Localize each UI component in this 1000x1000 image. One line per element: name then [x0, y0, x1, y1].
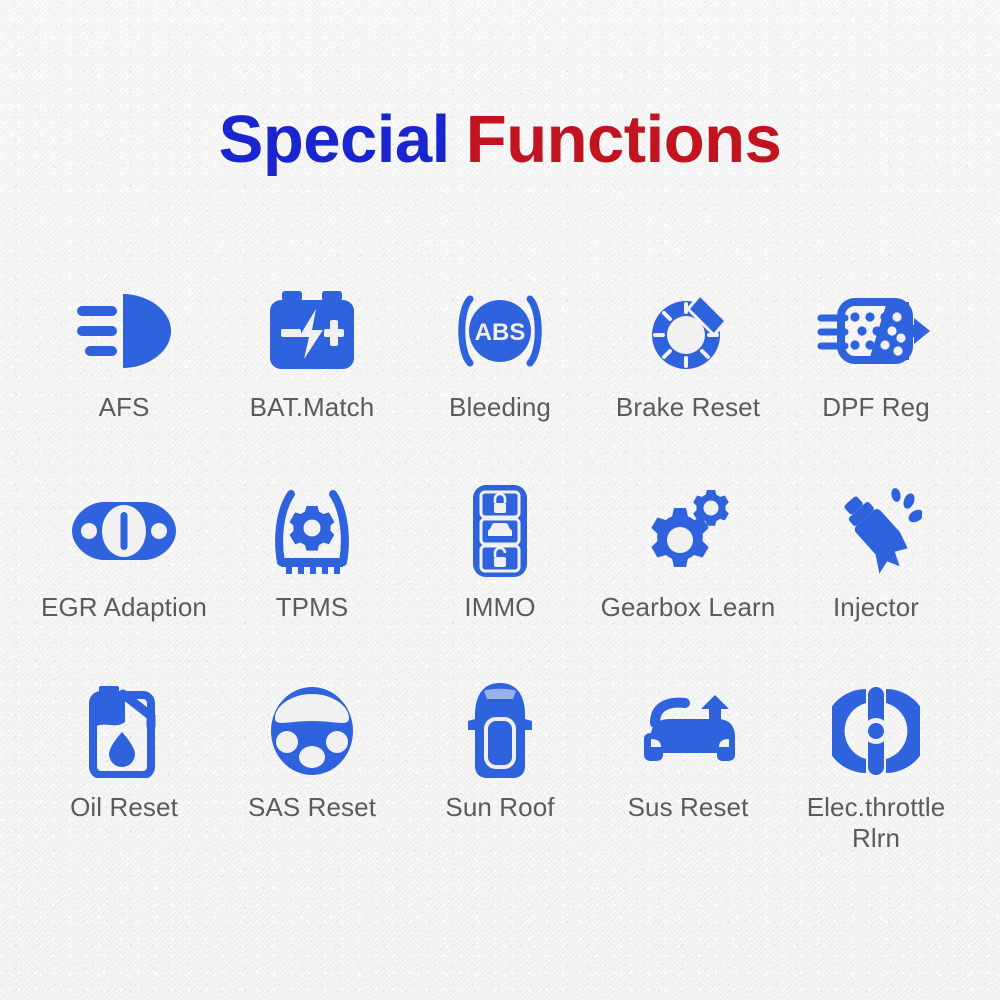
function-item-sus-reset[interactable]: Sus Reset	[594, 682, 782, 823]
suspension-car-icon	[637, 682, 739, 780]
function-item-dpf-reg[interactable]: DPF Reg	[782, 282, 970, 423]
function-item-gearbox-learn[interactable]: Gearbox Learn	[594, 482, 782, 623]
function-label: Oil Reset	[70, 792, 178, 823]
page-title-primary: Special	[219, 102, 450, 177]
steering-wheel-icon	[268, 682, 356, 780]
abs-icon: ABS	[453, 282, 547, 380]
brake-disc-icon	[642, 282, 734, 380]
function-item-bleeding[interactable]: ABS Bleeding	[406, 282, 594, 423]
function-item-afs[interactable]: AFS	[30, 282, 218, 423]
svg-text:ABS: ABS	[475, 319, 526, 346]
function-label: DPF Reg	[822, 392, 930, 423]
function-label: Elec.throttle Rlrn	[782, 792, 970, 853]
function-item-injector[interactable]: Injector	[782, 482, 970, 623]
tire-pressure-icon	[269, 482, 355, 580]
throttle-body-icon	[832, 682, 920, 780]
function-label: BAT.Match	[250, 392, 375, 423]
oil-can-icon	[85, 682, 163, 780]
function-label: AFS	[99, 392, 150, 423]
function-label: Injector	[833, 592, 919, 623]
function-label: EGR Adaption	[41, 592, 207, 623]
page-title: SpecialFunctions	[0, 103, 1000, 177]
special-functions-page: SpecialFunctions AFS	[0, 0, 1000, 1000]
function-item-sun-roof[interactable]: Sun Roof	[406, 682, 594, 823]
function-label: TPMS	[276, 592, 349, 623]
functions-grid: AFS	[30, 282, 970, 882]
function-label: IMMO	[464, 592, 535, 623]
car-sunroof-icon	[466, 682, 534, 780]
functions-row: AFS	[30, 282, 970, 482]
function-item-tpms[interactable]: TPMS	[218, 482, 406, 623]
headlight-icon	[71, 282, 177, 380]
page-title-secondary: Functions	[466, 102, 782, 177]
function-item-brake-reset[interactable]: Brake Reset	[594, 282, 782, 423]
gears-icon	[642, 482, 734, 580]
function-label: Sus Reset	[628, 792, 749, 823]
function-label: Bleeding	[449, 392, 551, 423]
functions-row: EGR Adaption	[30, 482, 970, 682]
function-item-immo[interactable]: IMMO	[406, 482, 594, 623]
egr-valve-icon	[68, 482, 180, 580]
functions-row: Oil Reset SAS Reset	[30, 682, 970, 882]
function-label: Gearbox Learn	[601, 592, 776, 623]
function-label: Brake Reset	[616, 392, 760, 423]
function-item-oil-reset[interactable]: Oil Reset	[30, 682, 218, 823]
function-item-elec-throttle-rlrn[interactable]: Elec.throttle Rlrn	[782, 682, 970, 853]
function-item-sas-reset[interactable]: SAS Reset	[218, 682, 406, 823]
function-item-egr-adaption[interactable]: EGR Adaption	[30, 482, 218, 623]
function-item-bat-match[interactable]: BAT.Match	[218, 282, 406, 423]
function-label: SAS Reset	[248, 792, 376, 823]
dpf-filter-icon	[817, 282, 935, 380]
car-key-fob-icon	[471, 482, 529, 580]
function-label: Sun Roof	[445, 792, 554, 823]
battery-icon	[266, 282, 358, 380]
fuel-injector-icon	[830, 482, 922, 580]
